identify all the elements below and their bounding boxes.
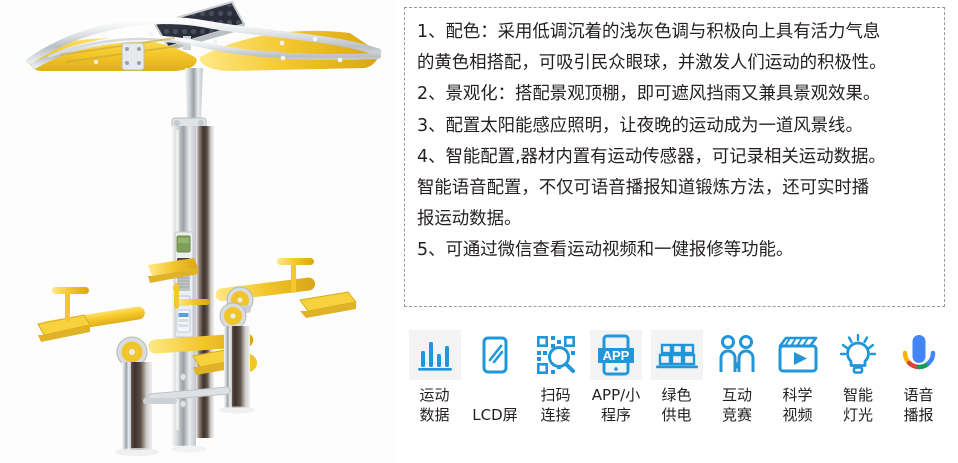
- fitness-equipment-illustration: [0, 0, 395, 463]
- feature-science-video[interactable]: 科学 视频: [769, 330, 826, 425]
- spec-line-1: 1、配色：采用低调沉着的浅灰色调与积极向上具有活力气息: [417, 17, 935, 48]
- feature-green-power[interactable]: 绿色 供电: [648, 330, 705, 425]
- spec-line-7: 报运动数据。: [417, 204, 935, 235]
- product-spec-page: 1、配色：采用低调沉着的浅灰色调与积极向上具有活力气息 的黄色相搭配，可吸引民众…: [0, 0, 958, 463]
- feature-sport-data[interactable]: 运动 数据: [406, 330, 463, 425]
- video-play-icon: [772, 330, 824, 380]
- feature-voice-broadcast[interactable]: 语音 播报: [890, 330, 947, 425]
- feature-label: 智能 灯光: [843, 385, 873, 425]
- feature-qr-connect[interactable]: 扫码 连接: [527, 330, 584, 425]
- qr-scan-icon: [530, 330, 582, 380]
- two-people-icon: [711, 330, 763, 380]
- spec-line-3: 2、景观化：搭配景观顶棚，即可遮风挡雨又兼具景观效果。: [417, 79, 935, 110]
- app-tablet-icon: APP: [590, 330, 642, 380]
- feature-label: 运动 数据: [419, 385, 449, 425]
- feature-label: 科学 视频: [782, 385, 812, 425]
- spec-line-6: 智能语音配置，不仅可语音播报知道锻炼方法，还可实时播: [417, 173, 935, 204]
- spec-line-4: 3、配置太阳能感应照明，让夜晚的运动成为一道风景线。: [417, 111, 935, 142]
- feature-interactive-contest[interactable]: 互动 竞赛: [709, 330, 766, 425]
- feature-icon-strip: 运动 数据 LCD屏: [400, 330, 953, 458]
- feature-label: 互动 竞赛: [722, 385, 752, 425]
- spec-text-box: 1、配色：采用低调沉着的浅灰色调与积极向上具有活力气息 的黄色相搭配，可吸引民众…: [404, 7, 945, 307]
- solar-panel-icon: [651, 330, 703, 380]
- feature-app-miniprogram[interactable]: APP APP/小 程序: [588, 330, 645, 425]
- feature-lcd-screen[interactable]: LCD屏: [467, 330, 524, 425]
- spec-line-5: 4、智能配置,器材内置有运动传感器，可记录相关运动数据。: [417, 142, 935, 173]
- product-image: [0, 0, 395, 463]
- spec-line-2: 的黄色相搭配，可吸引民众眼球，并激发人们运动的积极性。: [417, 48, 935, 79]
- feature-label: APP/小 程序: [592, 385, 640, 425]
- feature-label: 绿色 供电: [661, 385, 691, 425]
- feature-label: 扫码 连接: [540, 385, 570, 425]
- feature-smart-light[interactable]: 智能 灯光: [830, 330, 887, 425]
- feature-label: 语音 播报: [903, 385, 933, 425]
- feature-label: LCD屏: [472, 385, 517, 425]
- rocker-arm-lower-left: [38, 287, 152, 450]
- lightbulb-icon: [832, 330, 884, 380]
- lcd-screen-icon: [469, 330, 521, 380]
- microphone-icon: [893, 330, 945, 380]
- bar-chart-icon: [409, 330, 461, 380]
- description-pane: 1、配色：采用低调沉着的浅灰色调与积极向上具有活力气息 的黄色相搭配，可吸引民众…: [395, 0, 958, 463]
- spec-line-8: 5、可通过微信查看运动视频和一健报修等功能。: [417, 235, 935, 266]
- svg-text:APP: APP: [603, 348, 630, 363]
